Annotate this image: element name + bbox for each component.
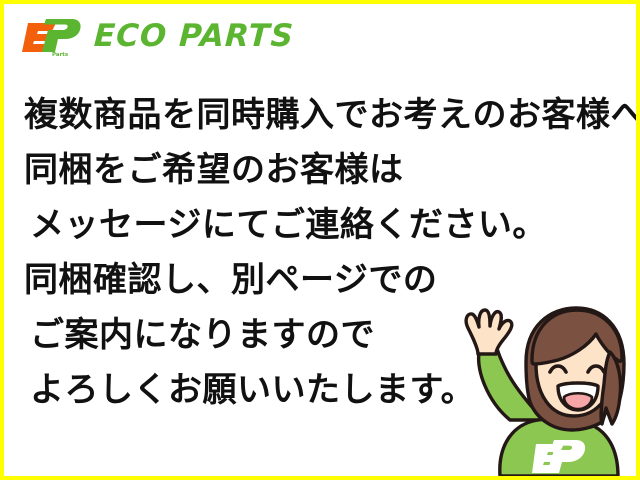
- brand-header: Eco Parts ECO PARTS: [22, 12, 294, 60]
- message-line-1: 複数商品を同時購入でお考えのお客様へ: [24, 88, 624, 143]
- promo-banner: Eco Parts ECO PARTS 複数商品を同時購入でお考えのお客様へ 同…: [0, 0, 640, 480]
- message-line-3: メッセージにてご連絡ください。: [24, 198, 624, 253]
- message-line-2: 同梱をご希望のお客様は: [24, 143, 624, 198]
- svg-text:Parts: Parts: [52, 52, 69, 57]
- waving-woman-illustration: [440, 298, 632, 476]
- svg-text:Eco: Eco: [25, 44, 36, 50]
- eco-parts-logo-icon: Eco Parts: [22, 15, 84, 57]
- brand-wordmark: ECO PARTS: [93, 21, 295, 52]
